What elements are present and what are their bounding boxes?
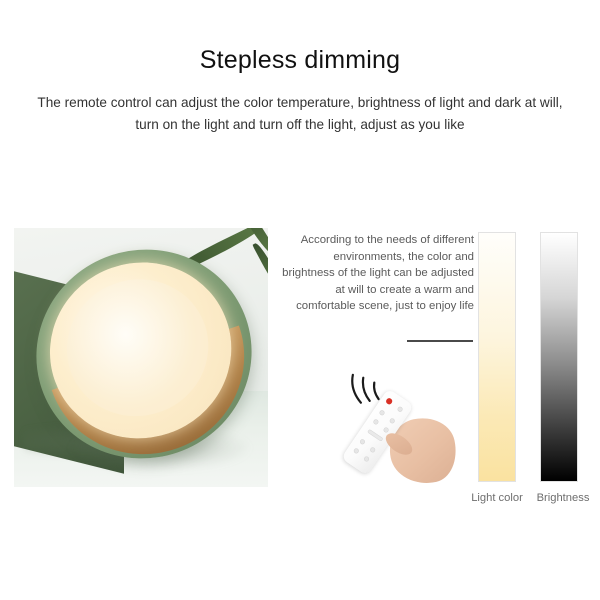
page-title: Stepless dimming bbox=[0, 46, 600, 75]
remote-button[interactable] bbox=[369, 446, 376, 453]
remote-illustration bbox=[332, 362, 474, 488]
page-subtitle: The remote control can adjust the color … bbox=[30, 92, 570, 136]
remote-button[interactable] bbox=[372, 418, 379, 425]
description-divider bbox=[407, 340, 473, 342]
brightness-label: Brightness bbox=[527, 492, 599, 504]
lamp-diffuser-glow bbox=[26, 239, 254, 463]
remote-button[interactable] bbox=[353, 447, 360, 454]
remote-button[interactable] bbox=[363, 456, 370, 463]
brightness-gradient-bar bbox=[540, 232, 578, 482]
light-color-gradient-bar bbox=[478, 232, 516, 482]
remote-button[interactable] bbox=[379, 409, 386, 416]
remote-button[interactable] bbox=[359, 438, 366, 445]
remote-button[interactable] bbox=[397, 406, 404, 413]
remote-power-button[interactable] bbox=[385, 397, 393, 405]
light-color-label: Light color bbox=[460, 492, 534, 504]
remote-button[interactable] bbox=[389, 417, 396, 424]
remote-slider-button[interactable] bbox=[367, 429, 383, 442]
description-text: According to the needs of different envi… bbox=[278, 232, 474, 315]
product-photo bbox=[14, 228, 268, 487]
